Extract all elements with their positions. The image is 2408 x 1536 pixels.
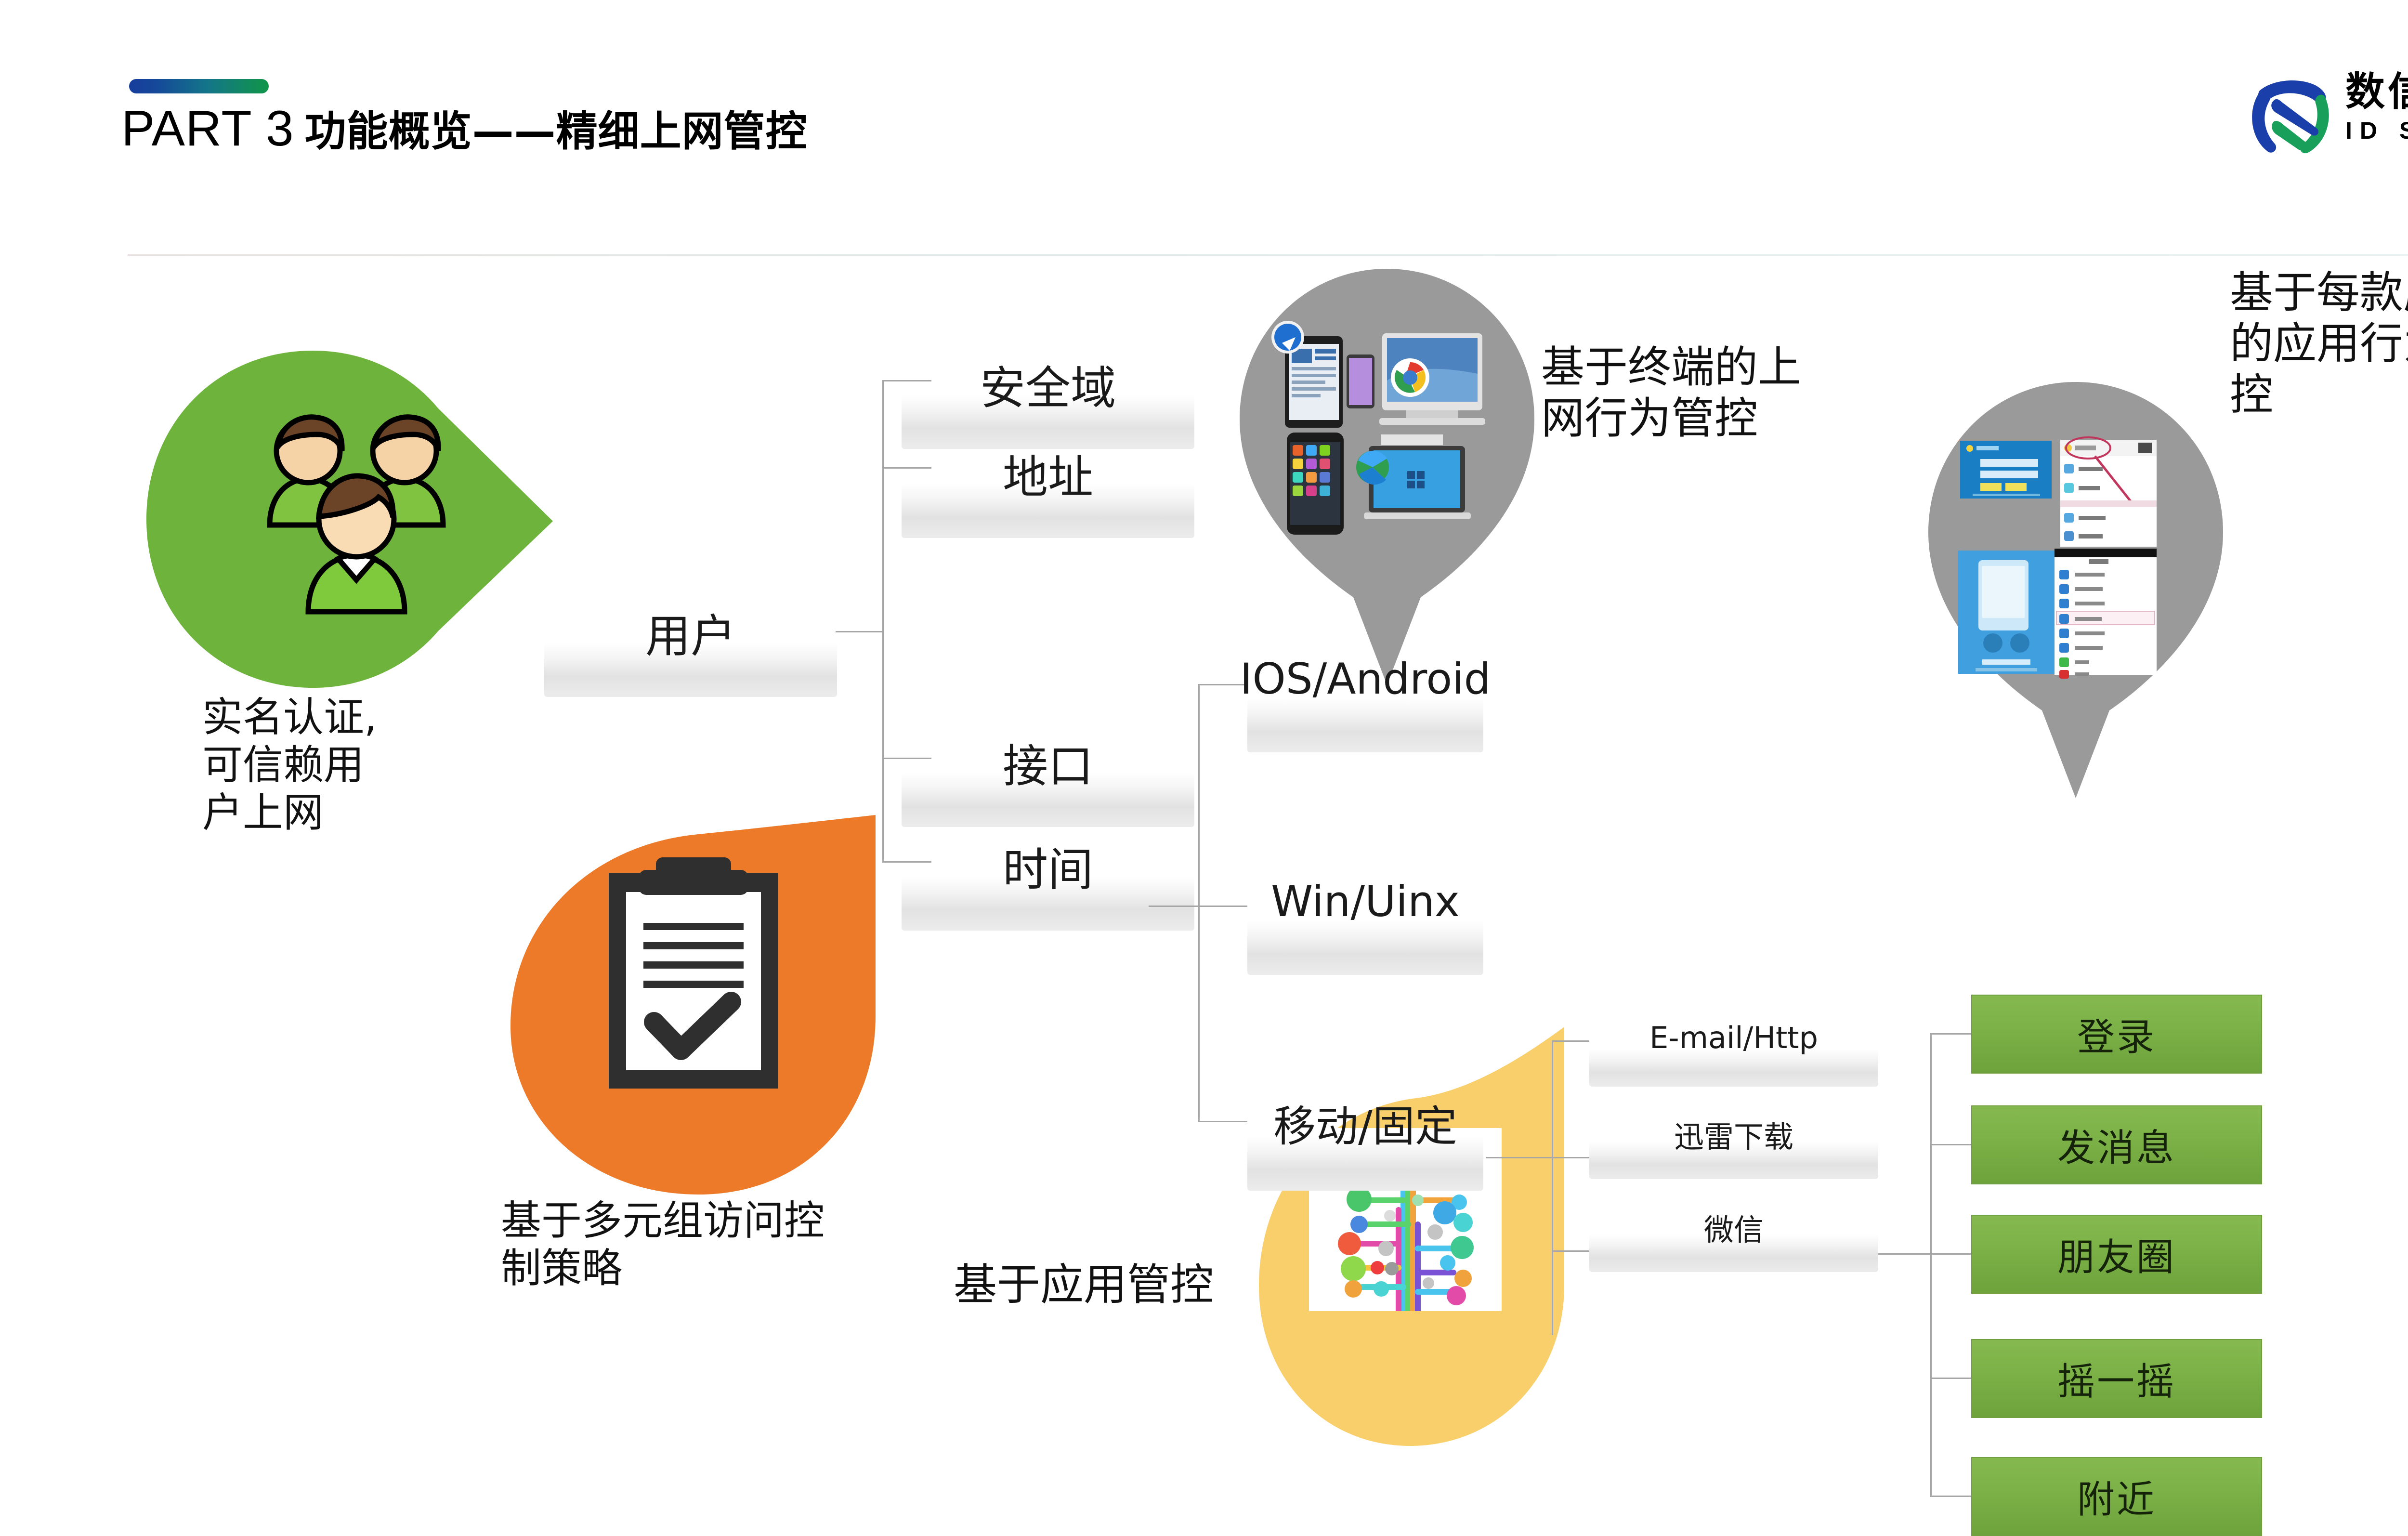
- action-label: 附近: [2077, 1470, 2156, 1523]
- connector: [1552, 1040, 1589, 1042]
- diagram-canvas: 实名认证, 可信赖用 户上网 基于多元组访问控 制策略: [0, 255, 2408, 1413]
- action-box[interactable]: 摇一摇: [1971, 1339, 2262, 1418]
- connector: [1878, 1253, 1930, 1255]
- pin-policy: [506, 814, 877, 1199]
- node-label: 安全域: [902, 352, 1194, 417]
- connector: [1930, 1253, 1971, 1255]
- node-label: 微信: [1589, 1206, 1878, 1249]
- caption-terminal: 基于终端的上 网行为管控: [1541, 342, 1878, 444]
- slide-header: PART 3功能概览——精细上网管控 数信安全 ID SEC: [0, 0, 2408, 255]
- app-screens-collage-image: [1950, 431, 2201, 682]
- shield-swirl-icon: [2244, 76, 2336, 160]
- node-bar[interactable]: [1247, 698, 1483, 752]
- brand-logo: 数信安全 ID SEC: [2244, 72, 2408, 164]
- devices-collage-image: [1262, 308, 1512, 539]
- connector: [1930, 1378, 1971, 1379]
- connector: [1507, 1157, 1589, 1158]
- action-label: 登录: [2077, 1007, 2156, 1061]
- pin-terminal: [1233, 265, 1541, 689]
- node-label: 地址: [902, 441, 1194, 506]
- node-label: Win/Uinx: [1238, 877, 1493, 926]
- node-bar[interactable]: [1247, 921, 1483, 975]
- connector: [882, 380, 884, 862]
- page-title: PART 3功能概览——精细上网管控: [121, 104, 808, 154]
- connector: [1198, 684, 1200, 1122]
- connector: [1552, 1250, 1553, 1335]
- node-label: IOS/Android: [1238, 654, 1493, 704]
- brand-logo-text: 数信安全 ID SEC: [2345, 72, 2408, 159]
- node-label: 时间: [902, 833, 1194, 899]
- three-users-icon: [212, 405, 453, 631]
- caption-policy: 基于多元组访问控 制策略: [501, 1197, 982, 1292]
- accent-gradient-bar: [129, 79, 269, 93]
- action-label: 发消息: [2057, 1118, 2176, 1172]
- brand-name-cn: 数信安全: [2345, 72, 2408, 112]
- action-label: 摇一摇: [2057, 1352, 2176, 1405]
- pin-apptree: [1257, 1026, 1565, 1450]
- connector: [1930, 1033, 1932, 1496]
- connector: [1552, 1250, 1589, 1252]
- connector: [1930, 1144, 1971, 1145]
- connector: [1930, 1033, 1971, 1035]
- action-label: 朋友圈: [2057, 1227, 2176, 1281]
- node-label: E-mail/Http: [1589, 1020, 1878, 1055]
- page-title-part: PART 3: [121, 101, 294, 157]
- action-box[interactable]: 附近: [1971, 1457, 2262, 1536]
- node-label: 迅雷下载: [1589, 1113, 1878, 1156]
- caption-apptree: 基于应用管控: [954, 1260, 1291, 1311]
- clipboard-check-icon: [602, 853, 785, 1093]
- action-box[interactable]: 登录: [1971, 995, 2262, 1074]
- node-label: 移动/固定: [1238, 1092, 1493, 1154]
- caption-users: 实名认证, 可信赖用 户上网: [202, 694, 510, 837]
- action-box[interactable]: 朋友圈: [1971, 1215, 2262, 1294]
- node-label: 接口: [902, 730, 1194, 795]
- brand-name-en: ID SEC: [2345, 118, 2408, 143]
- pin-users: [140, 347, 554, 694]
- page-title-text: 功能概览——精细上网管控: [305, 107, 808, 156]
- connector: [836, 631, 884, 632]
- action-box[interactable]: 发消息: [1971, 1105, 2262, 1184]
- connector: [1149, 906, 1199, 907]
- caption-application: 基于每款应用 的应用行为管 控: [2230, 267, 2408, 421]
- root-node-label: 用户: [544, 600, 837, 665]
- pin-application: [1922, 378, 2230, 802]
- connector: [1930, 1496, 1971, 1497]
